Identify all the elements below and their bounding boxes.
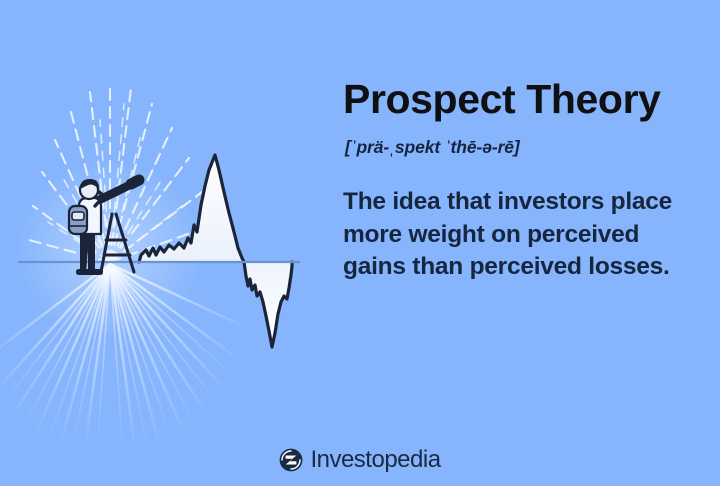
definition-block: Prospect Theory [ˈprä-ˌspekt ˈthē-ə-rē] …	[343, 78, 703, 284]
illustration-graphic	[0, 0, 340, 440]
prospect-theory-card: Prospect Theory [ˈprä-ˌspekt ˈthē-ə-rē] …	[0, 0, 720, 486]
definition-text: The idea that investors place more weigh…	[343, 186, 703, 284]
backpack-icon	[69, 206, 87, 234]
illustration-panel	[0, 0, 340, 440]
brand-wordmark: Investopedia	[310, 448, 440, 472]
investopedia-logo-icon	[279, 448, 303, 472]
person-shoe-right	[86, 269, 103, 275]
brand-footer: Investopedia	[0, 448, 720, 472]
pronunciation-text: [ˈprä-ˌspekt ˈthē-ə-rē]	[345, 137, 703, 158]
page-title: Prospect Theory	[343, 78, 703, 121]
